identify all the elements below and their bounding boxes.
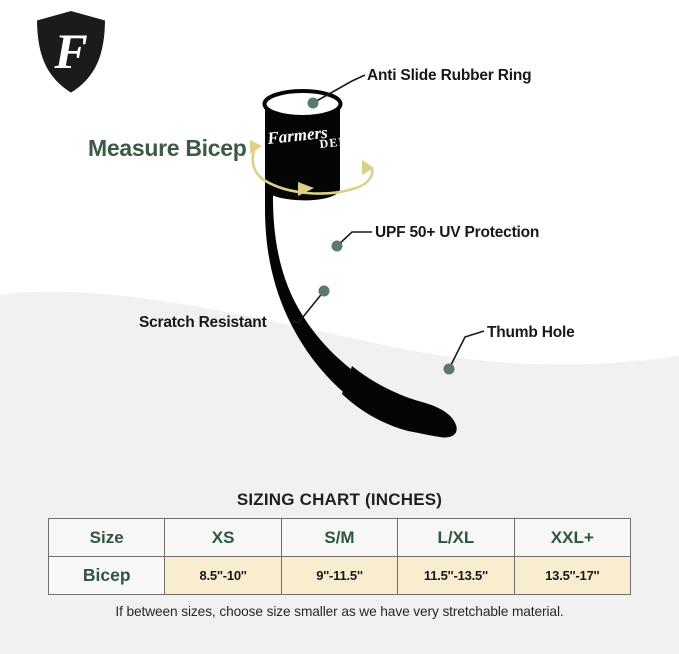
logo-monogram-letter: F: [53, 23, 87, 79]
column-header-sm: S/M: [281, 519, 397, 557]
callout-label-upf-protection: UPF 50+ UV Protection: [375, 224, 539, 242]
column-header-xxl: XXL+: [514, 519, 630, 557]
table-header-row: Size XS S/M L/XL XXL+: [49, 519, 631, 557]
measure-bicep-label: Measure Bicep: [88, 135, 246, 162]
brand-logo: F: [28, 6, 114, 98]
callout-label-anti-slide-rubber-ring: Anti Slide Rubber Ring: [367, 67, 531, 85]
table-row: Bicep 8.5''-10'' 9''-11.5'' 11.5''-13.5'…: [49, 557, 631, 595]
cell-bicep-sm: 9''-11.5'': [281, 557, 397, 595]
cell-bicep-lxl: 11.5''-13.5'': [398, 557, 514, 595]
cell-bicep-xs: 8.5''-10'': [165, 557, 281, 595]
sizing-chart-table: Size XS S/M L/XL XXL+ Bicep 8.5''-10'' 9…: [48, 518, 631, 595]
callout-label-thumb-hole: Thumb Hole: [487, 324, 575, 342]
column-header-size: Size: [49, 519, 165, 557]
column-header-xs: XS: [165, 519, 281, 557]
sleeve-thumb-end: [342, 366, 457, 437]
row-label-bicep: Bicep: [49, 557, 165, 595]
arm-sleeve-illustration: Farmers DEFENSE: [232, 78, 502, 438]
sizing-chart-note: If between sizes, choose size smaller as…: [0, 604, 679, 619]
column-header-lxl: L/XL: [398, 519, 514, 557]
sizing-chart-title: SIZING CHART (INCHES): [0, 490, 679, 510]
cuff-opening: [265, 91, 341, 117]
cell-bicep-xxl: 13.5''-17'': [514, 557, 630, 595]
product-infographic: F Farmers DEFENSE: [0, 0, 679, 654]
callout-label-scratch-resistant: Scratch Resistant: [139, 314, 267, 332]
